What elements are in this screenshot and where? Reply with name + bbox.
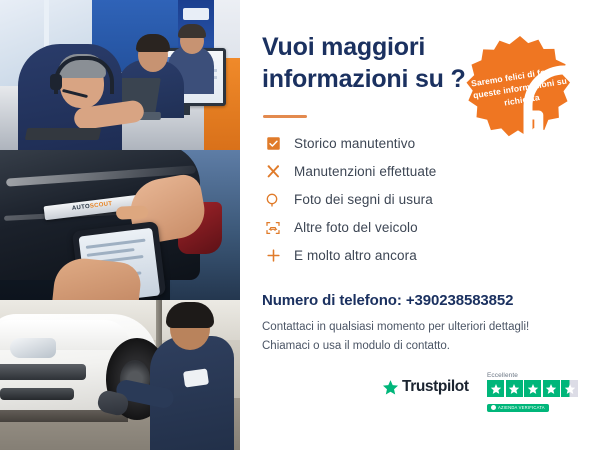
trustpilot-rating: Eccellente bbox=[487, 372, 578, 415]
feature-label: Altre foto del veicolo bbox=[294, 220, 418, 235]
verified-check-icon bbox=[491, 405, 496, 410]
trustpilot-widget[interactable]: Trustpilot Eccellente bbox=[382, 372, 592, 418]
title-divider bbox=[263, 115, 307, 118]
contact-line-2: Chiamaci o usa il modulo di contatto. bbox=[262, 337, 582, 356]
feature-item-altre-foto: Altre foto del veicolo bbox=[262, 214, 562, 241]
headset-icon bbox=[510, 52, 530, 72]
feature-label: Foto dei segni di usura bbox=[294, 192, 433, 207]
verified-badge: AZIENDA VERIFICATA bbox=[487, 404, 549, 412]
star-filled-icon bbox=[524, 380, 541, 397]
trustpilot-wordmark: Trustpilot bbox=[402, 378, 469, 396]
car-frame-icon bbox=[262, 217, 284, 239]
contact-line-1: Contattaci in qualsiasi momento per ulte… bbox=[262, 318, 582, 337]
contact-description: Contattaci in qualsiasi momento per ulte… bbox=[262, 318, 582, 355]
trustpilot-star-icon bbox=[382, 379, 399, 396]
vehicle-inspection-photo: AUTOSCOUT bbox=[0, 150, 240, 300]
search-icon bbox=[262, 189, 284, 211]
trustpilot-logo: Trustpilot bbox=[382, 378, 469, 396]
feature-label: Storico manutentivo bbox=[294, 136, 415, 151]
feature-label: E molto altro ancora bbox=[294, 248, 417, 263]
page-title: Vuoi maggiori informazioni su ? bbox=[262, 32, 482, 95]
feature-label: Manutenzioni effettuate bbox=[294, 164, 436, 179]
rating-label: Eccellente bbox=[487, 372, 578, 379]
tools-cross-icon bbox=[262, 161, 284, 183]
photo-column: AUTOSCOUT bbox=[0, 0, 240, 450]
feature-item-foto-usura: Foto dei segni di usura bbox=[262, 186, 562, 213]
checkbox-checked-icon bbox=[262, 133, 284, 155]
promo-banner: AUTOSCOUT bbox=[0, 0, 600, 450]
feature-item-storico: Storico manutentivo bbox=[262, 130, 562, 157]
call-center-photo bbox=[0, 0, 240, 150]
star-rating bbox=[487, 380, 578, 397]
star-half-icon bbox=[561, 380, 578, 397]
feature-item-altro-ancora: E molto altro ancora bbox=[262, 242, 562, 269]
plus-icon bbox=[262, 245, 284, 267]
star-filled-icon bbox=[543, 380, 560, 397]
feature-item-manutenzioni: Manutenzioni effettuate bbox=[262, 158, 562, 185]
phone-number[interactable]: Numero di telefono: +390238583852 bbox=[262, 292, 513, 309]
star-filled-icon bbox=[506, 380, 523, 397]
feature-list: Storico manutentivo Manutenzioni effettu… bbox=[262, 130, 562, 270]
garage-mechanic-photo bbox=[0, 300, 240, 450]
content-panel: Vuoi maggiori informazioni su ? Saremo f… bbox=[240, 0, 600, 450]
info-badge: Saremo felici di fornirti queste informa… bbox=[466, 34, 574, 142]
verified-label: AZIENDA VERIFICATA bbox=[498, 405, 545, 410]
star-filled-icon bbox=[487, 380, 504, 397]
